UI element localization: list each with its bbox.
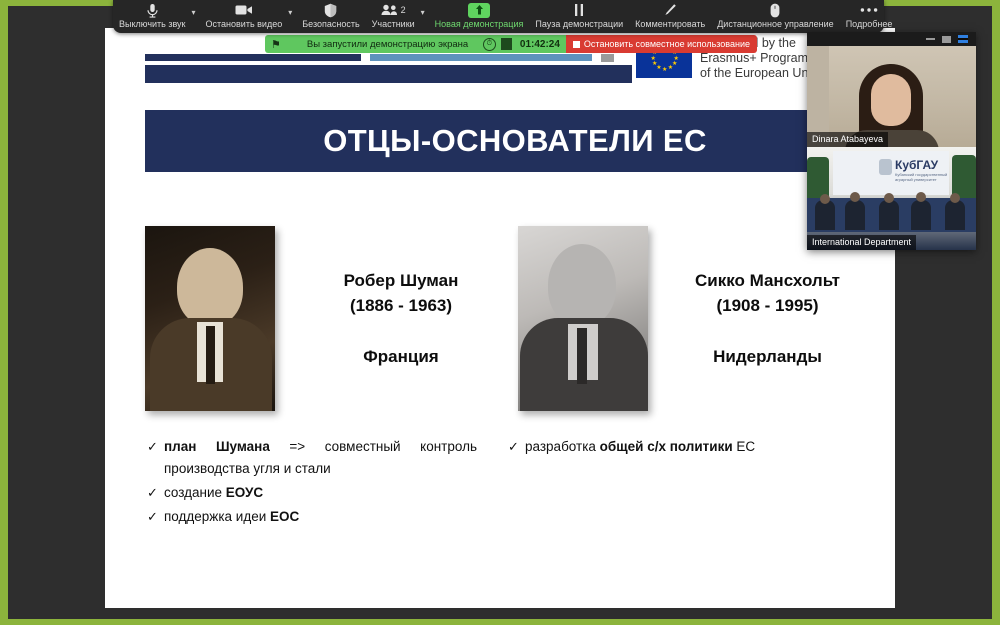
person-country: Нидерланды — [660, 344, 875, 369]
toolbar-item-label: Пауза демонстрации — [535, 19, 623, 30]
toolbar-item-label: Комментировать — [635, 19, 705, 30]
participants-count: 2 — [401, 5, 406, 15]
toolbar-item-label: Остановить видео — [206, 19, 283, 30]
slide-title: ОТЦЫ-ОСНОВАТЕЛИ ЕС — [323, 123, 707, 159]
toolbar-item-pencil[interactable]: Комментировать — [629, 0, 711, 35]
person-block-mansholt: Сикко Мансхольт (1908 - 1995) Нидерланды — [518, 226, 875, 411]
decor-bar-gray-square — [601, 54, 614, 62]
eu-star-icon: ★ — [656, 66, 660, 70]
bullet-list-schuman: ✓план Шумана => совместный контроль прои… — [147, 436, 477, 530]
bullet-item: ✓поддержка идеи ЕОС — [147, 506, 477, 528]
pencil-icon — [663, 2, 677, 18]
room-banner: КубГАУ Кубанский государственный аграрны… — [833, 151, 949, 195]
toolbar-item-label: Дистанционное управление — [717, 19, 833, 30]
zoom-meeting-toolbar[interactable]: Выключить звук▾Остановить видео▾Безопасн… — [113, 0, 884, 33]
bullet-text: разработка общей с/х политики ЕС — [525, 436, 853, 458]
caption-schuman: Робер Шуман (1886 - 1963) Франция — [287, 226, 515, 369]
portrait-robert-schuman — [145, 226, 275, 411]
screen-share-status-bar: ⚑ Вы запустили демонстрацию экрана ⏱ 01:… — [265, 35, 757, 53]
toolbar-item-mouse[interactable]: Дистанционное управление — [711, 0, 839, 35]
chevron-down-icon[interactable]: ▾ — [192, 0, 200, 36]
bullet-list-mansholt: ✓разработка общей с/х политики ЕС — [508, 436, 853, 460]
person-years: (1908 - 1995) — [660, 293, 875, 318]
toolbar-item-pause[interactable]: Пауза демонстрации — [529, 0, 629, 35]
checkmark-icon: ✓ — [508, 436, 525, 458]
person-years: (1886 - 1963) — [287, 293, 515, 318]
share-screen-button[interactable] — [468, 3, 490, 18]
toolbar-item-label: Выключить звук — [119, 19, 186, 30]
share-timer: 01:42:24 — [520, 39, 560, 50]
toolbar-item-video-camera[interactable]: Остановить видео — [200, 0, 289, 35]
slide-title-banner: ОТЦЫ-ОСНОВАТЕЛИ ЕС — [145, 110, 885, 172]
bullet-text: создание ЕОУС — [164, 482, 477, 504]
toolbar-item-label: Новая демонстрация — [435, 19, 524, 30]
toolbar-item-label: Подробнее — [846, 19, 893, 30]
chevron-down-icon[interactable]: ▾ — [288, 0, 296, 36]
bullet-item: ✓план Шумана => совместный контроль прои… — [147, 436, 477, 480]
eu-star-icon: ★ — [674, 57, 678, 61]
stop-share-button[interactable]: Остановить совместное использование — [566, 35, 757, 53]
banner-subtitle: Кубанский государственный аграрный униве… — [895, 172, 949, 182]
sharing-flag-icon: ⚑ — [271, 38, 281, 51]
presentation-slide: ★★★★★★★★★★★★ Co-funded by the Erasmus+ P… — [105, 28, 895, 608]
video-tile-name: Dinara Atabayeva — [807, 132, 888, 147]
bullet-item: ✓создание ЕОУС — [147, 482, 477, 504]
video-tile-name: International Department — [807, 235, 916, 250]
stop-square-icon — [573, 41, 580, 48]
person-name: Робер Шуман — [287, 268, 515, 293]
eu-star-icon: ★ — [652, 62, 656, 66]
checkmark-icon: ✓ — [147, 506, 164, 528]
microphone-icon — [146, 2, 159, 18]
toolbar-item-microphone[interactable]: Выключить звук — [113, 0, 192, 35]
person-block-schuman: Робер Шуман (1886 - 1963) Франция — [145, 226, 515, 411]
ellipsis-icon — [860, 2, 878, 18]
video-tile-dinara[interactable]: Dinara Atabayeva — [807, 46, 976, 147]
participants-icon: 2 — [381, 2, 406, 18]
dual-view-icon[interactable] — [958, 35, 968, 43]
kubgau-logo-icon — [879, 159, 892, 175]
minimize-icon[interactable] — [926, 38, 935, 40]
eu-star-icon: ★ — [651, 57, 655, 61]
shield-icon — [501, 38, 512, 50]
toolbar-item-participants[interactable]: 2Участники — [366, 0, 421, 35]
checkmark-icon: ✓ — [147, 482, 164, 504]
decor-bar-blue-small — [370, 54, 592, 61]
portrait-sicco-mansholt — [518, 226, 648, 411]
clock-icon: ⏱ — [483, 38, 496, 51]
sharing-status: ⚑ Вы запустили демонстрацию экрана ⏱ 01:… — [265, 35, 566, 53]
video-camera-icon — [235, 2, 253, 18]
chevron-down-icon[interactable]: ▾ — [421, 0, 429, 36]
maximize-icon[interactable] — [942, 36, 951, 43]
eu-star-icon: ★ — [668, 66, 672, 70]
screen: ★★★★★★★★★★★★ Co-funded by the Erasmus+ P… — [0, 0, 1000, 625]
person-name: Сикко Мансхольт — [660, 268, 875, 293]
bullet-text: план Шумана => совместный контроль произ… — [164, 436, 477, 480]
checkmark-icon: ✓ — [147, 436, 164, 458]
person-country: Франция — [287, 344, 515, 369]
bullet-item: ✓разработка общей с/х политики ЕС — [508, 436, 853, 458]
shield-icon — [324, 2, 337, 18]
mouse-icon — [770, 2, 780, 18]
share-screen-up-arrow-icon — [468, 2, 490, 18]
toolbar-item-shield[interactable]: Безопасность — [296, 0, 365, 35]
eu-star-icon: ★ — [662, 68, 666, 72]
pause-icon — [573, 2, 585, 18]
toolbar-item-label: Участники — [372, 19, 415, 30]
video-tile-international-department[interactable]: КубГАУ Кубанский государственный аграрны… — [807, 147, 976, 250]
video-panel-titlebar[interactable] — [807, 32, 976, 46]
shared-screen-content: ★★★★★★★★★★★★ Co-funded by the Erasmus+ P… — [105, 28, 895, 608]
toolbar-item-share-screen-up-arrow[interactable]: Новая демонстрация — [429, 0, 530, 35]
toolbar-item-label: Безопасность — [302, 19, 359, 30]
bullet-text: поддержка идеи ЕОС — [164, 506, 477, 528]
sharing-status-text: Вы запустили демонстрацию экрана — [307, 39, 468, 50]
banner-title: КубГАУ — [895, 158, 938, 172]
desktop-taskbar — [8, 609, 992, 619]
video-thumbnail-panel[interactable]: Dinara Atabayeva КубГАУ Кубанский госуда… — [807, 32, 976, 250]
toolbar-item-ellipsis[interactable]: Подробнее — [840, 0, 899, 35]
decor-bar-navy-small — [145, 54, 361, 61]
stop-share-label: Остановить совместное использование — [584, 39, 750, 49]
